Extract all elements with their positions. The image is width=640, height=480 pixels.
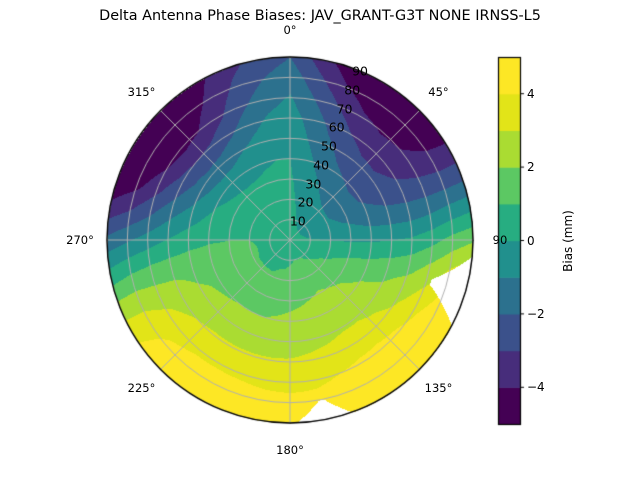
polar-contour-plot-canvas <box>0 0 640 480</box>
polar-skyplot-figure: Delta Antenna Phase Biases: JAV_GRANT-G3… <box>0 0 640 480</box>
